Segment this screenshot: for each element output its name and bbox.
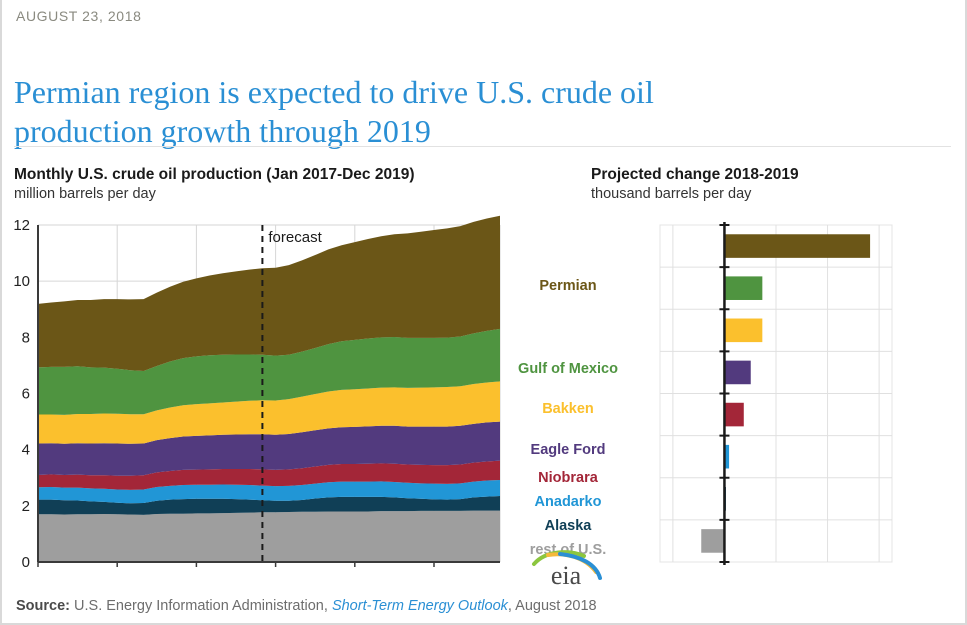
area-y-tick-label: 0	[22, 554, 30, 571]
eia-logo-text: eia	[551, 561, 582, 588]
legend-item-label: Bakken	[542, 401, 594, 417]
bar-gulf-of-mexico	[724, 276, 762, 300]
eia-logo: eia	[520, 548, 612, 588]
area-x-tick-label: Jul-18	[255, 571, 296, 572]
page-root: AUGUST 23, 2018 Permian region is expect…	[0, 0, 967, 625]
right-chart-subtitle: thousand barrels per day	[591, 186, 751, 202]
area-series-rest-of-u-s	[38, 511, 500, 562]
legend-item-label: Permian	[539, 278, 596, 294]
bar-eagle-ford	[724, 361, 750, 385]
header-divider	[14, 146, 951, 147]
legend-item-label: Eagle Ford	[531, 442, 606, 458]
left-chart-subtitle: million barrels per day	[14, 186, 156, 202]
area-x-tick-label: Jul-19	[414, 571, 455, 572]
page-title: Permian region is expected to drive U.S.…	[14, 73, 714, 151]
area-y-tick-label: 8	[22, 329, 30, 346]
source-agency: U.S. Energy Information Administration,	[74, 598, 328, 614]
area-x-tick-label: Jan-18	[173, 571, 219, 572]
legend-item-label: Anadarko	[535, 494, 602, 510]
left-chart-title: Monthly U.S. crude oil production (Jan 2…	[14, 166, 415, 184]
bar-x-tick-label: 0	[720, 571, 728, 572]
source-line: Source: U.S. Energy Information Administ…	[16, 598, 597, 614]
area-y-tick-label: 6	[22, 386, 30, 403]
bar-x-tick-label: -200	[658, 571, 688, 572]
bar-bakken	[724, 319, 762, 343]
bar-rest-of-u-s	[701, 529, 724, 553]
legend-item-label: Niobrara	[538, 470, 598, 486]
area-y-tick-label: 10	[13, 273, 30, 290]
source-publication-link[interactable]: Short-Term Energy Outlook	[332, 598, 508, 614]
legend-item-label: Alaska	[545, 518, 592, 534]
area-y-tick-label: 12	[13, 217, 30, 234]
article-date: AUGUST 23, 2018	[16, 8, 141, 24]
right-chart-title: Projected change 2018-2019	[591, 166, 799, 184]
bar-permian	[724, 234, 870, 258]
area-chart-svg: forecast024681012Jan-17Jul-17Jan-18Jul-1…	[0, 212, 520, 572]
area-x-tick-label: Jan-19	[332, 571, 378, 572]
bar-x-tick-label: 600	[867, 571, 892, 572]
forecast-annotation-label: forecast	[268, 229, 322, 246]
area-x-tick-label: Jul-17	[97, 571, 138, 572]
monthly-production-area-chart: forecast024681012Jan-17Jul-17Jan-18Jul-1…	[0, 212, 520, 572]
bar-x-tick-label: 200	[763, 571, 788, 572]
projected-change-bar-chart: -2000200400600	[600, 212, 900, 572]
area-y-tick-label: 2	[22, 498, 30, 515]
source-label: Source:	[16, 598, 70, 614]
bar-niobrara	[724, 403, 743, 427]
bar-chart-svg: -2000200400600	[600, 212, 900, 572]
source-suffix: , August 2018	[508, 598, 597, 614]
area-y-tick-label: 4	[22, 442, 30, 459]
bar-x-tick-label: 400	[815, 571, 840, 572]
area-x-tick-label: Jan-17	[15, 571, 61, 572]
